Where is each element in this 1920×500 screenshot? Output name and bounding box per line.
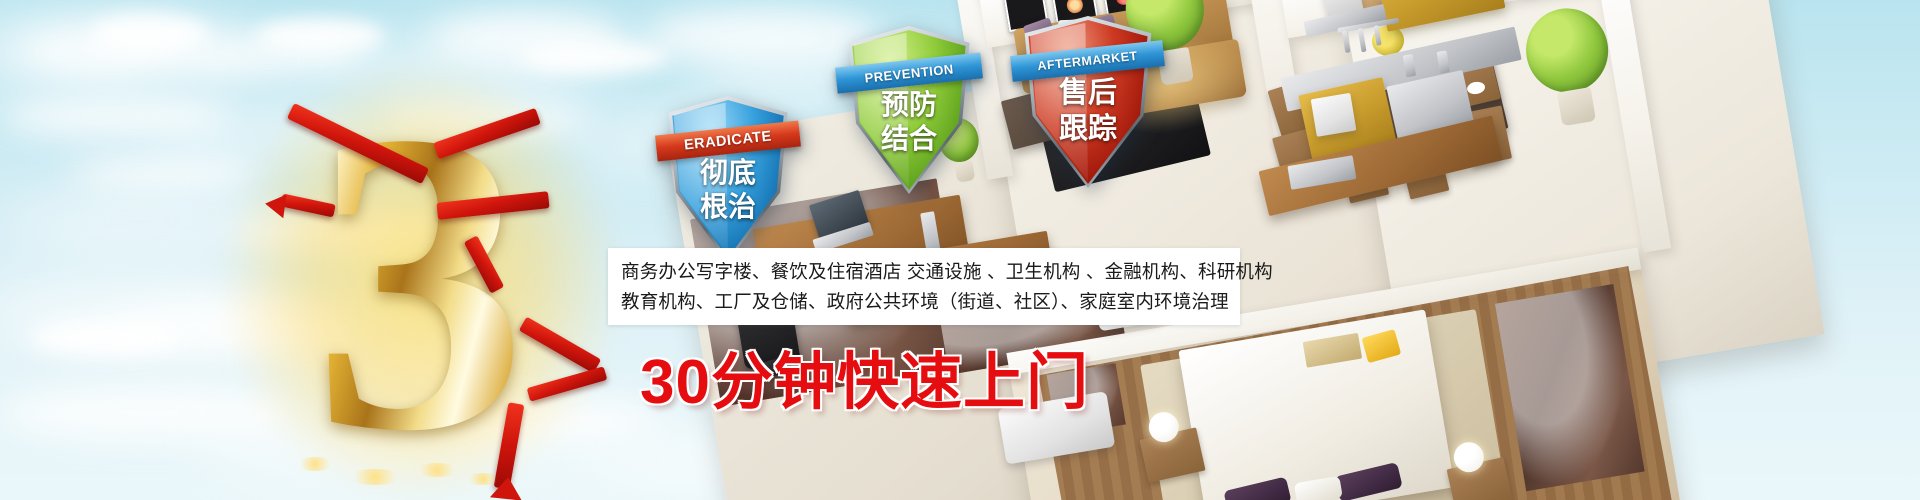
shield-cn-line2: 根治 bbox=[666, 192, 790, 221]
shield-banner-label: AFTERMARKET bbox=[1037, 49, 1139, 73]
service-scope-line-1: 商务办公写字楼、餐饮及住宿酒店 交通设施 、卫生机构 、金融机构、科研机构 bbox=[608, 257, 1240, 287]
shield-cn-line1: 彻底 bbox=[666, 158, 790, 187]
shield-badge-aftermarket: AFTERMARKET 售后 跟踪 bbox=[1022, 16, 1154, 188]
service-scope-line-2: 教育机构、工厂及仓储、政府公共环境（街道、社区）、家庭室内环境治理 bbox=[608, 287, 1240, 317]
shield-cn-line2: 结合 bbox=[846, 124, 972, 153]
sparkle-4 bbox=[465, 473, 501, 485]
hero-number: 3 bbox=[255, 85, 585, 480]
service-scope-panel: 商务办公写字楼、餐饮及住宿酒店 交通设施 、卫生机构 、金融机构、科研机构 教育… bbox=[608, 248, 1240, 325]
shield-banner-label: ERADICATE bbox=[683, 128, 772, 153]
shield-cn-line1: 预防 bbox=[846, 90, 972, 119]
shield-cn-line2: 跟踪 bbox=[1022, 114, 1154, 144]
shield-badge-eradicate: ERADICATE 彻底 根治 bbox=[666, 96, 790, 262]
golden-three-graphic: 3 bbox=[255, 85, 585, 480]
sparkle-1 bbox=[295, 457, 335, 471]
promotional-banner: ERADICATE 彻底 根治 PREVENTION 预防 结合 AFTERMA… bbox=[0, 0, 1920, 500]
shield-banner-label: PREVENTION bbox=[864, 61, 955, 85]
shield-badge-prevention: PREVENTION 预防 结合 bbox=[846, 26, 972, 194]
sparkle-2 bbox=[347, 469, 403, 485]
headline-30min: 30分钟快速上门 bbox=[640, 352, 1089, 414]
ribbon-arrow-left bbox=[263, 192, 286, 219]
shield-cn-line1: 售后 bbox=[1022, 78, 1154, 108]
sparkle-3 bbox=[415, 463, 459, 477]
kitchen-oven bbox=[1311, 93, 1357, 137]
